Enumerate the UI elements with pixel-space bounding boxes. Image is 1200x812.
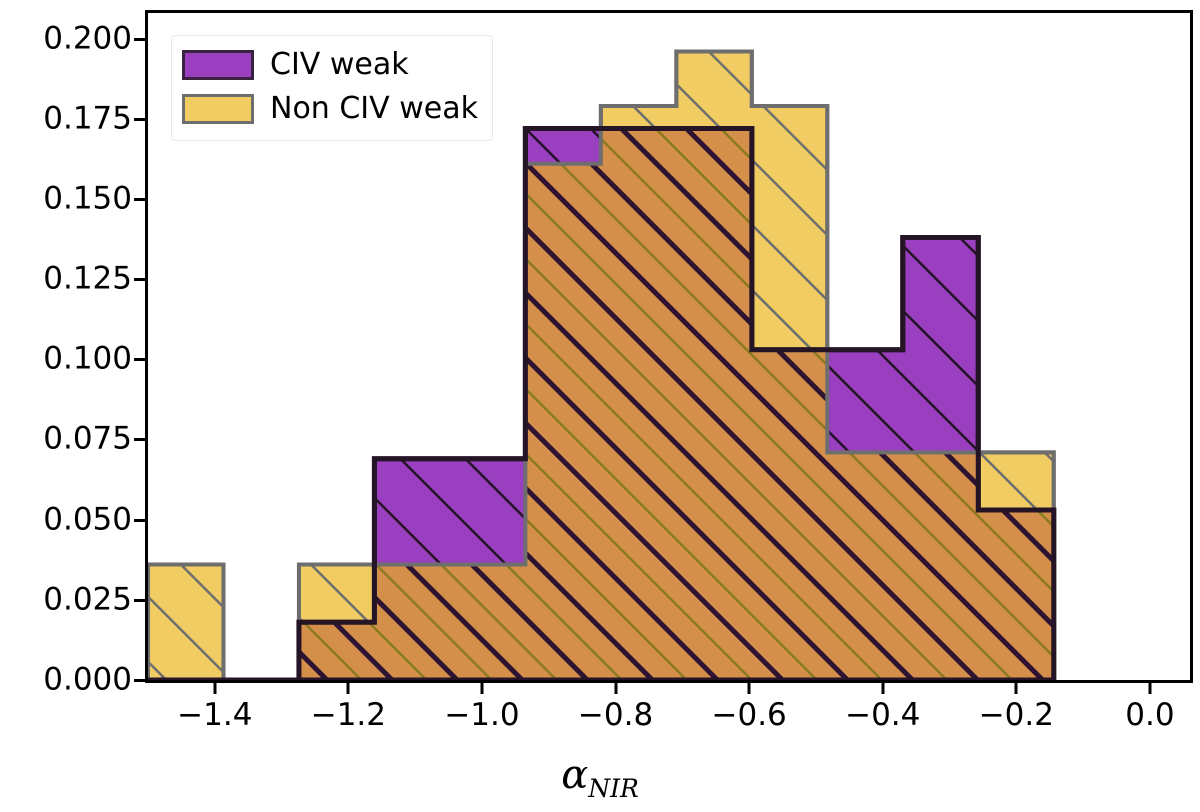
x-axis-label: αNIR (0, 752, 1200, 803)
legend-item-non-civ-weak: Non CIV weak (182, 87, 478, 131)
legend-label-civ-weak: CIV weak (270, 50, 409, 80)
y-tick-mark (134, 679, 145, 682)
y-tick-mark (134, 38, 145, 41)
x-tick-mark (480, 683, 483, 694)
x-tick-label: 0.0 (1080, 700, 1200, 731)
y-tick-label: 0.075 (12, 424, 132, 455)
y-tick-mark (134, 519, 145, 522)
x-axis-label-alpha: α (561, 752, 588, 798)
y-tick-label: 0.150 (12, 183, 132, 214)
y-tick-mark (134, 438, 145, 441)
x-tick-mark (748, 683, 751, 694)
plot-area: CIV weak Non CIV weak (145, 10, 1193, 683)
x-tick-label: −0.6 (679, 700, 819, 731)
y-tick-mark (134, 198, 145, 201)
legend-item-civ-weak: CIV weak (182, 43, 478, 87)
y-tick-mark (134, 278, 145, 281)
y-tick-label: 0.125 (12, 264, 132, 295)
x-tick-label: −0.4 (813, 700, 953, 731)
y-tick-mark (134, 358, 145, 361)
x-tick-mark (881, 683, 884, 694)
x-tick-label: −1.4 (145, 700, 285, 731)
legend-swatch-non-civ-weak (182, 94, 254, 124)
x-tick-label: −0.2 (946, 700, 1086, 731)
y-tick-label: 0.200 (12, 23, 132, 54)
y-tick-label: 0.175 (12, 103, 132, 134)
x-tick-label: −0.8 (546, 700, 686, 731)
legend-swatch-civ-weak (182, 50, 254, 80)
legend: CIV weak Non CIV weak (171, 35, 493, 141)
x-tick-mark (347, 683, 350, 694)
legend-label-non-civ-weak: Non CIV weak (270, 94, 478, 124)
x-tick-mark (614, 683, 617, 694)
x-tick-label: −1.0 (412, 700, 552, 731)
x-tick-mark (1015, 683, 1018, 694)
histogram-figure: 0.0000.0250.0500.0750.1000.1250.1500.175… (0, 0, 1200, 812)
y-tick-mark (134, 118, 145, 121)
y-tick-label: 0.100 (12, 344, 132, 375)
y-tick-label: 0.050 (12, 504, 132, 535)
x-tick-label: −1.2 (278, 700, 418, 731)
x-tick-mark (213, 683, 216, 694)
x-tick-mark (1148, 683, 1151, 694)
y-tick-label: 0.000 (12, 665, 132, 696)
y-tick-mark (134, 599, 145, 602)
y-tick-label: 0.025 (12, 584, 132, 615)
x-axis-label-subscript: NIR (588, 774, 639, 803)
